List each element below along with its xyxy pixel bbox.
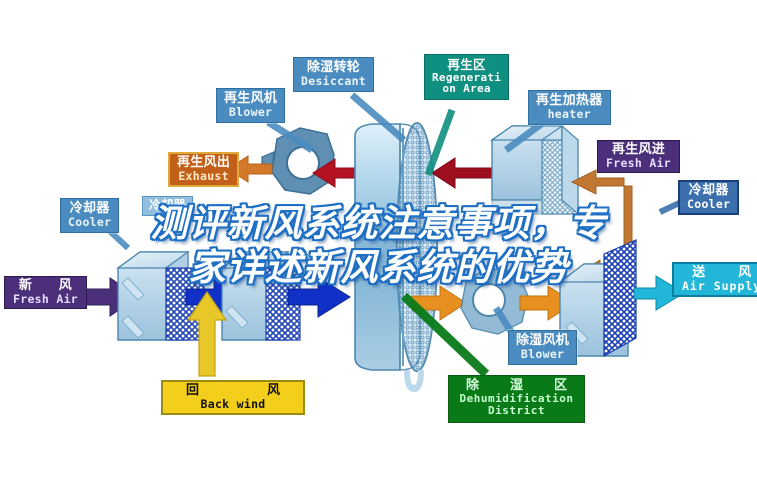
regen-hot-air-arrow-2 — [432, 158, 492, 188]
label-en: Air Supply — [682, 280, 757, 292]
label-dehumidification-district[interactable]: 除 湿 区 Dehumidification District — [448, 375, 585, 423]
label-cooler-right[interactable]: 冷却器 Cooler — [678, 180, 739, 215]
label-cn: 再生风进 — [606, 143, 671, 157]
label-en: Exhaust — [177, 170, 230, 182]
label-en: Cooler — [68, 216, 111, 228]
label-en: Fresh Air — [13, 293, 78, 305]
label-back-wind[interactable]: 回 风 Back wind — [161, 380, 305, 415]
label-cn: 新 风 — [13, 279, 78, 293]
diagram-canvas: XTE — [0, 0, 757, 488]
label-regeneration-heater[interactable]: 再生加热器 heater — [528, 90, 611, 125]
label-fresh-air-in[interactable]: 新 风 Fresh Air — [4, 276, 87, 309]
label-cn: 再生风机 — [224, 92, 277, 106]
label-regeneration-blower[interactable]: 再生风机 Blower — [216, 88, 285, 123]
label-cn: 再生区 — [432, 58, 501, 72]
label-cn: 再生加热器 — [536, 94, 603, 108]
label-cn: 再生风出 — [177, 156, 230, 170]
label-en: heater — [536, 108, 603, 120]
label-cn: 冷却器 — [687, 184, 730, 198]
label-cn: 冷却器 — [68, 202, 111, 216]
label-en: Blower — [224, 106, 277, 118]
dehumidification-blower-housing — [461, 268, 528, 334]
label-cn: 除 湿 区 — [457, 379, 576, 393]
label-en-line2: on Area — [432, 83, 501, 95]
dehumidifier-schematic: XTE — [0, 0, 757, 488]
label-en: Back wind — [172, 398, 294, 410]
label-cn: 冷却器 — [149, 199, 186, 212]
regeneration-heater-coil — [492, 126, 578, 214]
label-en: Fresh Air — [606, 157, 671, 169]
label-exhaust[interactable]: 再生风出 Exhaust — [168, 152, 239, 187]
label-regeneration-area[interactable]: 再生区 Regenerati on Area — [424, 54, 509, 100]
svg-text:XTE: XTE — [395, 319, 418, 333]
label-cn: 回 风 — [172, 384, 294, 398]
label-cooler-left[interactable]: 冷却器 Cooler — [60, 198, 119, 233]
label-cooler-secondary[interactable]: 冷却器 — [142, 196, 193, 216]
label-cn: 除湿风机 — [516, 334, 569, 348]
label-dehumidification-blower[interactable]: 除湿风机 Blower — [508, 330, 577, 365]
label-air-supply[interactable]: 送 风 Air Supply — [672, 262, 757, 297]
label-cn: 除湿转轮 — [301, 61, 366, 75]
desiccant-rotor: XTE — [355, 123, 437, 392]
label-en: Cooler — [687, 198, 730, 210]
label-en-line2: District — [457, 405, 576, 417]
label-cn: 送 风 — [682, 266, 757, 280]
label-en: Blower — [516, 348, 569, 360]
label-desiccant-wheel[interactable]: 除湿转轮 Desiccant — [293, 57, 374, 92]
label-regeneration-fresh-air-in[interactable]: 再生风进 Fresh Air — [597, 140, 680, 173]
label-en: Desiccant — [301, 75, 366, 87]
